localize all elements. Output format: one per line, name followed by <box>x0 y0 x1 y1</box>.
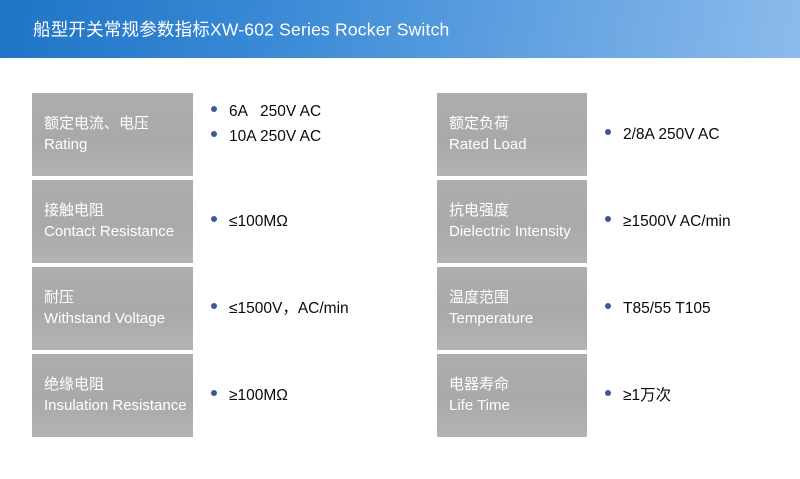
param-label-temperature: 温度范围 Temperature <box>437 267 587 350</box>
param-label-withstand-voltage: 耐压 Withstand Voltage <box>32 267 193 350</box>
list-item: 2/8A 250V AC <box>605 122 787 147</box>
param-value: T85/55 T105 <box>623 296 711 321</box>
page-title: 船型开关常规参数指标XW-602 Series Rocker Switch <box>33 17 449 42</box>
param-label-en: Temperature <box>449 308 587 330</box>
bullet-icon <box>605 129 611 135</box>
param-label-en: Insulation Resistance <box>44 395 193 417</box>
param-values-dielectric-intensity: ≥1500V AC/min <box>587 180 787 263</box>
param-label-en: Rated Load <box>449 134 587 156</box>
table-row: 耐压 Withstand Voltage ≤1500V，AC/min <box>32 267 430 350</box>
param-label-en: Life Time <box>449 395 587 417</box>
list-item: T85/55 T105 <box>605 296 787 321</box>
param-label-life-time: 电器寿命 Life Time <box>437 354 587 437</box>
param-label-en: Dielectric Intensity <box>449 221 587 243</box>
param-label-dielectric-intensity: 抗电强度 Dielectric Intensity <box>437 180 587 263</box>
param-label-rating: 额定电流、电压 Rating <box>32 93 193 176</box>
param-label-cn: 额定负荷 <box>449 113 587 134</box>
param-value: 6A 250V AC <box>229 99 321 124</box>
table-row: 电器寿命 Life Time ≥1万次 <box>437 354 787 437</box>
param-label-contact-resistance: 接触电阻 Contact Resistance <box>32 180 193 263</box>
param-value: 10A 250V AC <box>229 124 321 149</box>
param-label-cn: 额定电流、电压 <box>44 113 193 134</box>
bullet-icon <box>605 390 611 396</box>
list-item: ≥1万次 <box>605 383 787 408</box>
bullet-icon <box>211 390 217 396</box>
param-values-life-time: ≥1万次 <box>587 354 787 437</box>
param-values-insulation-resistance: ≥100MΩ <box>193 354 430 437</box>
param-label-cn: 耐压 <box>44 287 193 308</box>
param-label-cn: 温度范围 <box>449 287 587 308</box>
spec-table: 额定电流、电压 Rating 6A 250V AC 10A 250V AC 接触… <box>0 58 800 479</box>
bullet-icon <box>211 303 217 309</box>
table-row: 抗电强度 Dielectric Intensity ≥1500V AC/min <box>437 180 787 263</box>
bullet-icon <box>605 303 611 309</box>
param-value: 2/8A 250V AC <box>623 122 720 147</box>
param-value: ≥1500V AC/min <box>623 209 731 234</box>
param-label-cn: 接触电阻 <box>44 200 193 221</box>
param-values-rating: 6A 250V AC 10A 250V AC <box>193 93 430 176</box>
param-values-rated-load: 2/8A 250V AC <box>587 93 787 176</box>
param-value: ≥1万次 <box>623 383 671 408</box>
param-label-en: Contact Resistance <box>44 221 193 243</box>
table-row: 额定电流、电压 Rating 6A 250V AC 10A 250V AC <box>32 93 430 176</box>
table-row: 额定负荷 Rated Load 2/8A 250V AC <box>437 93 787 176</box>
spec-column-left: 额定电流、电压 Rating 6A 250V AC 10A 250V AC 接触… <box>32 93 430 441</box>
table-row: 接触电阻 Contact Resistance ≤100MΩ <box>32 180 430 263</box>
param-values-temperature: T85/55 T105 <box>587 267 787 350</box>
list-item: 6A 250V AC <box>211 99 430 124</box>
bullet-icon <box>211 106 217 112</box>
param-label-cn: 电器寿命 <box>449 374 587 395</box>
param-label-rated-load: 额定负荷 Rated Load <box>437 93 587 176</box>
table-row: 绝缘电阻 Insulation Resistance ≥100MΩ <box>32 354 430 437</box>
list-item: ≤100MΩ <box>211 209 430 234</box>
bullet-icon <box>211 216 217 222</box>
list-item: 10A 250V AC <box>211 124 430 149</box>
param-label-en: Withstand Voltage <box>44 308 193 330</box>
param-values-withstand-voltage: ≤1500V，AC/min <box>193 267 430 350</box>
param-label-cn: 绝缘电阻 <box>44 374 193 395</box>
param-label-cn: 抗电强度 <box>449 200 587 221</box>
bullet-icon <box>211 131 217 137</box>
spec-column-right: 额定负荷 Rated Load 2/8A 250V AC 抗电强度 Dielec… <box>437 93 787 441</box>
param-label-insulation-resistance: 绝缘电阻 Insulation Resistance <box>32 354 193 437</box>
param-values-contact-resistance: ≤100MΩ <box>193 180 430 263</box>
param-value: ≤100MΩ <box>229 209 288 234</box>
param-label-en: Rating <box>44 134 193 156</box>
header-band: 船型开关常规参数指标XW-602 Series Rocker Switch <box>0 0 800 58</box>
bullet-icon <box>605 216 611 222</box>
table-row: 温度范围 Temperature T85/55 T105 <box>437 267 787 350</box>
list-item: ≥100MΩ <box>211 383 430 408</box>
param-value: ≤1500V，AC/min <box>229 296 349 321</box>
list-item: ≤1500V，AC/min <box>211 296 430 321</box>
param-value: ≥100MΩ <box>229 383 288 408</box>
list-item: ≥1500V AC/min <box>605 209 787 234</box>
